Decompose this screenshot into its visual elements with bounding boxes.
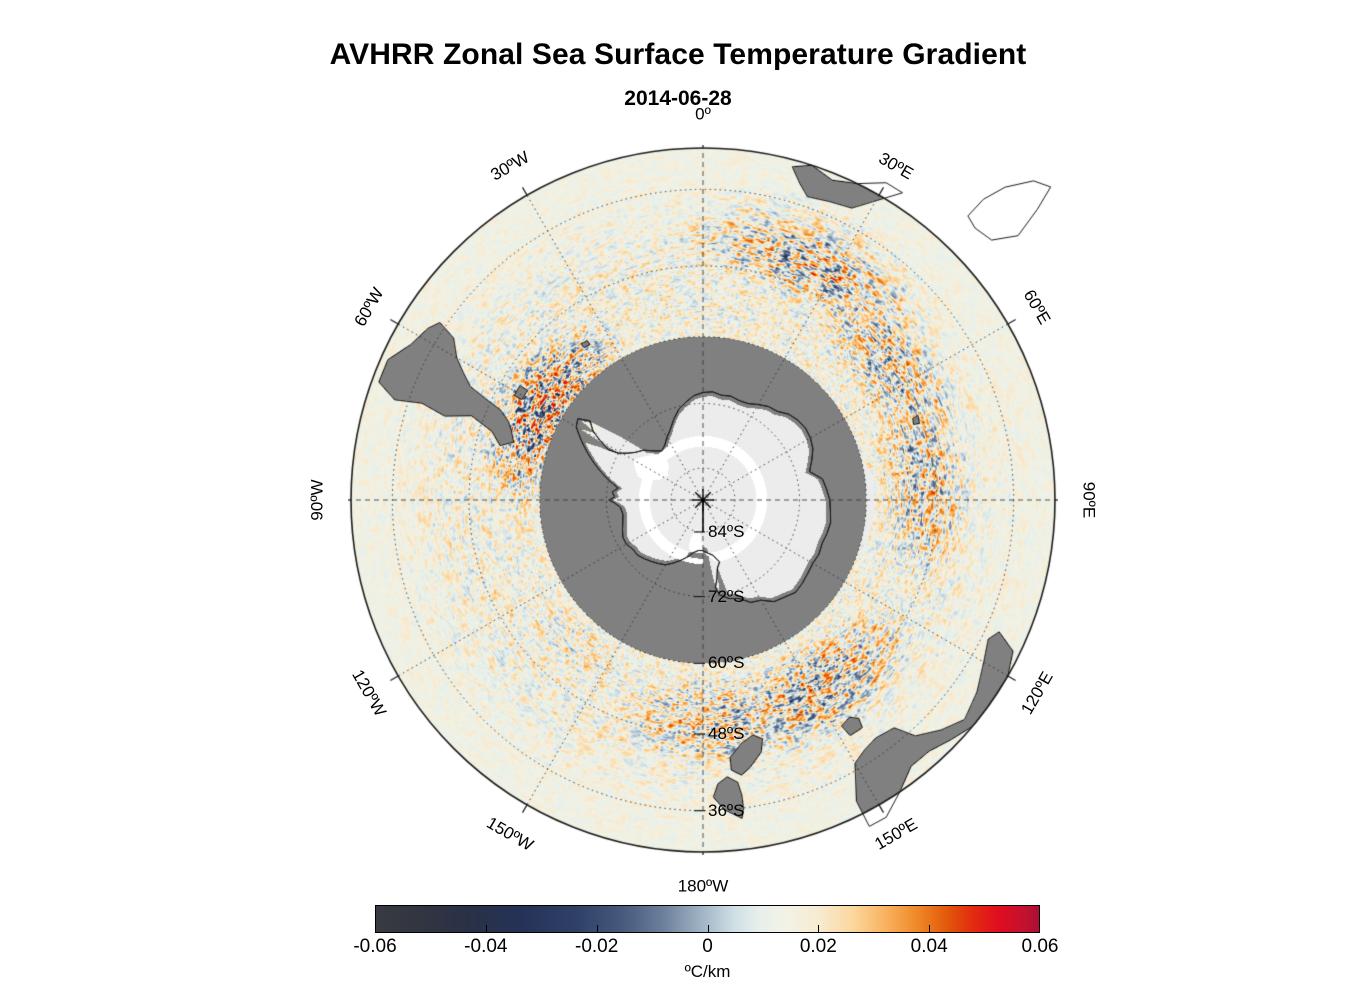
colorbar-ticks bbox=[375, 905, 1040, 933]
lat-label-36s: 36ºS bbox=[708, 802, 744, 819]
colorbar-tick-label-1: -0.04 bbox=[464, 936, 507, 958]
colorbar-tick-2 bbox=[597, 925, 598, 933]
colorbar-unit-label: ºC/km bbox=[375, 962, 1040, 982]
lon-label-90: 90ºE bbox=[1081, 482, 1098, 518]
colorbar-tick-label-4: 0.02 bbox=[800, 936, 837, 958]
colorbar-tick-label-6: 0.06 bbox=[1022, 936, 1059, 958]
lon-label-neg90: 90ºW bbox=[309, 479, 326, 520]
colorbar-tick-label-3: 0 bbox=[702, 936, 713, 958]
colorbar-tick-5 bbox=[929, 925, 930, 933]
colorbar-tick-1 bbox=[486, 925, 487, 933]
colorbar-tick-3 bbox=[708, 925, 709, 933]
lat-label-48s: 48ºS bbox=[708, 725, 744, 742]
map-graticule-overlay bbox=[348, 145, 1058, 855]
polar-map bbox=[348, 145, 1058, 855]
lat-label-72s: 72ºS bbox=[708, 588, 744, 605]
figure-canvas: AVHRR Zonal Sea Surface Temperature Grad… bbox=[0, 0, 1356, 1000]
colorbar-tick-4 bbox=[818, 925, 819, 933]
colorbar-tick-label-5: 0.04 bbox=[911, 936, 948, 958]
colorbar-tick-label-2: -0.02 bbox=[575, 936, 618, 958]
lat-label-84s: 84ºS bbox=[708, 523, 744, 540]
colorbar-tick-0 bbox=[375, 925, 376, 933]
colorbar-tick-labels: -0.06-0.04-0.0200.020.040.06 bbox=[375, 936, 1040, 960]
colorbar-tick-6 bbox=[1039, 925, 1040, 933]
colorbar: -0.06-0.04-0.0200.020.040.06 ºC/km bbox=[375, 905, 1040, 995]
page-title: AVHRR Zonal Sea Surface Temperature Grad… bbox=[0, 38, 1356, 72]
plot-subtitle-date: 2014-06-28 bbox=[0, 86, 1356, 112]
colorbar-tick-label-0: -0.06 bbox=[353, 936, 396, 958]
lat-label-60s: 60ºS bbox=[708, 654, 744, 671]
lon-label-180: 180ºW bbox=[678, 878, 729, 895]
lon-label-0: 0º bbox=[695, 106, 711, 123]
